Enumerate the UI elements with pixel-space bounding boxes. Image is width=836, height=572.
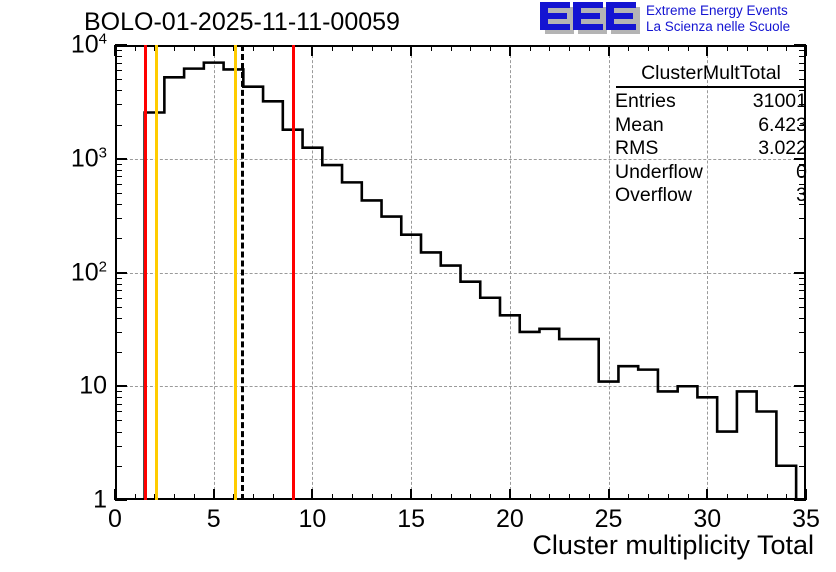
red-upper-limit bbox=[292, 45, 295, 500]
stats-row: RMS3.022 bbox=[612, 137, 810, 161]
gold-upper-limit bbox=[234, 45, 237, 500]
stats-row-value: 6.423 bbox=[758, 114, 807, 138]
stats-row: Underflow0 bbox=[612, 161, 810, 185]
eee-logo-mark bbox=[540, 2, 640, 36]
stats-row-value: 3 bbox=[796, 184, 807, 208]
x-axis-title: Cluster multiplicity Total bbox=[532, 530, 814, 561]
y-axis-tick-label: 104 bbox=[71, 30, 107, 59]
eee-logo-text: Extreme Energy Events La Scienza nelle S… bbox=[646, 3, 832, 35]
x-axis-tick-label: 20 bbox=[496, 505, 524, 534]
x-axis-tick-label: 5 bbox=[207, 505, 221, 534]
eee-logo-line2: La Scienza nelle Scuole bbox=[646, 19, 832, 35]
root-canvas: BOLO-01-2025-11-11-00059 Extreme Energy … bbox=[0, 0, 836, 572]
x-axis-tick-label: 35 bbox=[792, 505, 820, 534]
x-axis-tick-label: 30 bbox=[693, 505, 721, 534]
stats-box-title: ClusterMultTotal bbox=[616, 62, 806, 88]
x-axis-tick-label: 10 bbox=[299, 505, 327, 534]
eee-logo: Extreme Energy Events La Scienza nelle S… bbox=[540, 2, 832, 38]
x-axis-tick-label: 15 bbox=[397, 505, 425, 534]
red-lower-limit bbox=[144, 45, 147, 500]
y-axis-tick-label: 102 bbox=[71, 258, 107, 287]
mean-line bbox=[241, 45, 244, 500]
stats-box: ClusterMultTotal Entries31001Mean6.423RM… bbox=[612, 62, 810, 208]
gold-lower-limit bbox=[155, 45, 158, 500]
stats-row-value: 31001 bbox=[753, 90, 807, 114]
stats-row-label: RMS bbox=[615, 137, 658, 161]
stats-row-label: Underflow bbox=[615, 161, 703, 185]
stats-row-value: 3.022 bbox=[758, 137, 807, 161]
stats-row-label: Overflow bbox=[615, 184, 692, 208]
y-axis-tick-label: 1 bbox=[93, 486, 107, 515]
y-axis-tick-label: 103 bbox=[71, 144, 107, 173]
eee-logo-line1: Extreme Energy Events bbox=[646, 3, 832, 19]
stats-row: Overflow3 bbox=[612, 184, 810, 208]
stats-rows: Entries31001Mean6.423RMS3.022Underflow0O… bbox=[612, 90, 810, 208]
stats-row: Mean6.423 bbox=[612, 114, 810, 138]
stats-row-label: Mean bbox=[615, 114, 664, 138]
y-axis-tick-label: 10 bbox=[79, 372, 107, 401]
x-axis-tick-label: 25 bbox=[595, 505, 623, 534]
x-axis-tick-label: 0 bbox=[108, 505, 122, 534]
stats-row-label: Entries bbox=[615, 90, 676, 114]
stats-row: Entries31001 bbox=[612, 90, 810, 114]
stats-row-value: 0 bbox=[796, 161, 807, 185]
page-title: BOLO-01-2025-11-11-00059 bbox=[84, 8, 400, 37]
